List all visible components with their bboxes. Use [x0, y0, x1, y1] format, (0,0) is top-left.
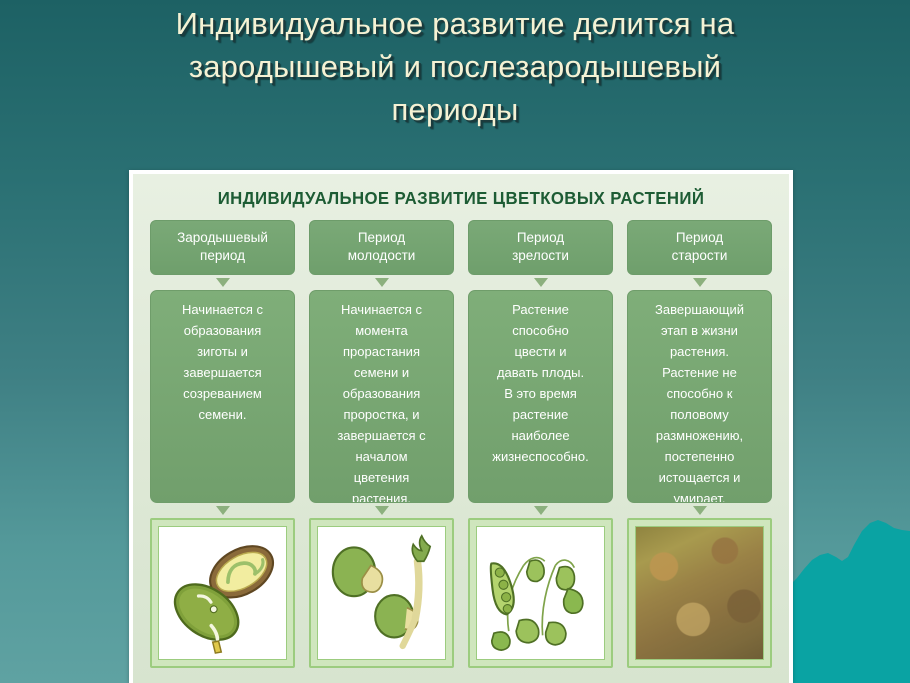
- germinating-seedling-illustration: [317, 526, 446, 660]
- column-image-frame: [150, 518, 295, 668]
- column-description: Начинается с момента прорастания семени …: [309, 290, 454, 503]
- column-header-chip[interactable]: Период молодости: [309, 220, 454, 275]
- column-image-frame: [627, 518, 772, 668]
- down-arrow-icon: [534, 506, 548, 515]
- diagram-card-inner: ИНДИВИДУАЛЬНОЕ РАЗВИТИЕ ЦВЕТКОВЫХ РАСТЕН…: [133, 174, 789, 683]
- column-header-chip[interactable]: Период старости: [627, 220, 772, 275]
- diagram-column-embryonic: Зародышевый период Начинается с образова…: [150, 220, 295, 668]
- diagram-column-maturity: Период зрелости Растение способно цвести…: [468, 220, 613, 668]
- down-arrow-icon: [693, 506, 707, 515]
- column-description: Начинается с образования зиготы и заверш…: [150, 290, 295, 503]
- presentation-slide: Индивидуальное развитие делится на зарод…: [0, 0, 910, 683]
- diagram-heading: ИНДИВИДУАЛЬНОЕ РАЗВИТИЕ ЦВЕТКОВЫХ РАСТЕН…: [146, 174, 776, 220]
- column-description: Растение способно цвести и давать плоды.…: [468, 290, 613, 503]
- column-header-chip[interactable]: Период зрелости: [468, 220, 613, 275]
- down-arrow-icon: [216, 278, 230, 287]
- mountain-decoration: [790, 483, 910, 683]
- seed-cross-section-illustration: [158, 526, 287, 660]
- down-arrow-icon: [534, 278, 548, 287]
- pea-pods-plant-illustration: [476, 526, 605, 660]
- down-arrow-icon: [375, 278, 389, 287]
- diagram-card: ИНДИВИДУАЛЬНОЕ РАЗВИТИЕ ЦВЕТКОВЫХ РАСТЕН…: [129, 170, 793, 683]
- column-image-frame: [309, 518, 454, 668]
- column-header-chip[interactable]: Зародышевый период: [150, 220, 295, 275]
- diagram-column-youth: Период молодости Начинается с момента пр…: [309, 220, 454, 668]
- column-image-frame: [468, 518, 613, 668]
- diagram-columns: Зародышевый период Начинается с образова…: [133, 220, 789, 668]
- withered-dry-plant-photo: [635, 526, 764, 660]
- down-arrow-icon: [693, 278, 707, 287]
- column-description: Завершающий этап в жизни растения. Расте…: [627, 290, 772, 503]
- withered-plant-photo-surface: [636, 527, 763, 659]
- slide-title: Индивидуальное развитие делится на зарод…: [0, 2, 910, 131]
- down-arrow-icon: [216, 506, 230, 515]
- diagram-column-old-age: Период старости Завершающий этап в жизни…: [627, 220, 772, 668]
- down-arrow-icon: [375, 506, 389, 515]
